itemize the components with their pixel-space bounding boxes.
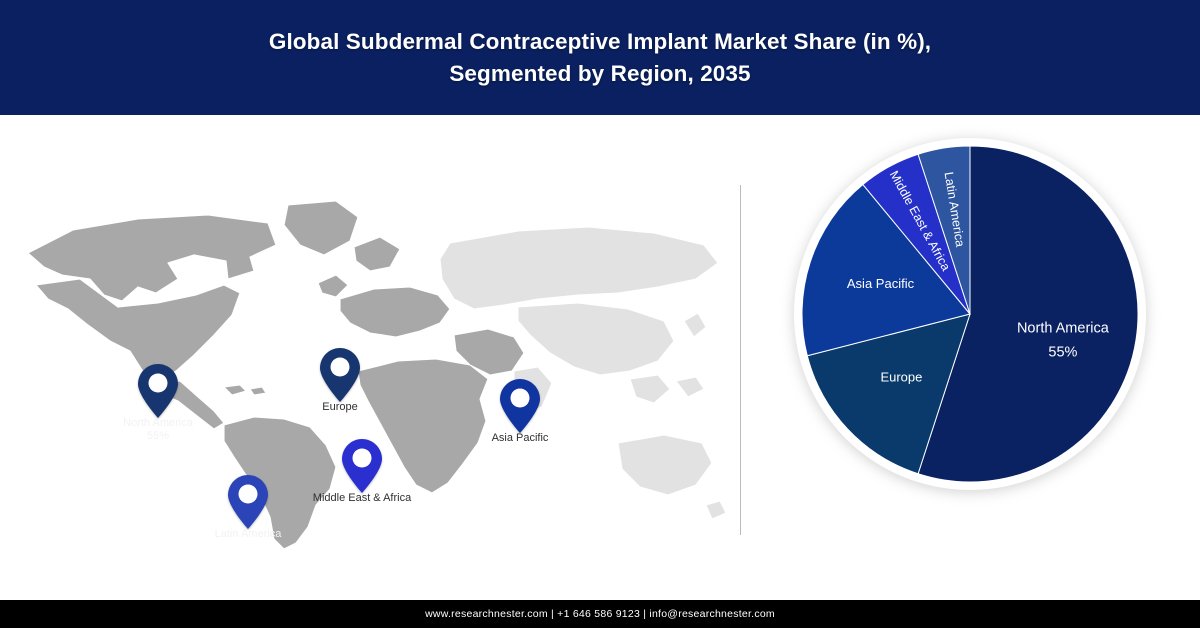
marker-region-name: Latin America bbox=[215, 528, 282, 540]
location-pin-icon bbox=[137, 363, 179, 419]
marker-region-value: 55% bbox=[123, 430, 193, 443]
map-marker-asia-pacific[interactable]: Asia Pacific bbox=[499, 378, 541, 434]
map-marker-europe[interactable]: Europe bbox=[319, 347, 361, 403]
map-marker-north-america[interactable]: North America 55% bbox=[137, 363, 179, 419]
page-title-line-1: Global Subdermal Contraceptive Implant M… bbox=[269, 29, 931, 54]
location-pin-icon bbox=[319, 347, 361, 403]
pie-chart: North America55%EuropeAsia PacificMiddle… bbox=[792, 136, 1148, 492]
footer-contact-text: www.researchnester.com | +1 646 586 9123… bbox=[425, 608, 775, 620]
marker-region-name: Middle East & Africa bbox=[313, 492, 411, 504]
location-pin-icon bbox=[341, 438, 383, 494]
pie-chart-svg: North America55%EuropeAsia PacificMiddle… bbox=[792, 136, 1148, 492]
world-map-panel: North America 55% Latin America Europe bbox=[0, 115, 740, 600]
map-marker-label-latin-america: Latin America bbox=[215, 528, 282, 541]
location-pin-icon bbox=[499, 378, 541, 434]
map-marker-label-north-america: North America 55% bbox=[123, 417, 193, 444]
marker-region-name: Europe bbox=[322, 401, 357, 413]
footer-bar: www.researchnester.com | +1 646 586 9123… bbox=[0, 600, 1200, 628]
page-title-line-2: Segmented by Region, 2035 bbox=[449, 61, 750, 86]
content-stage: North America 55% Latin America Europe bbox=[0, 115, 1200, 600]
marker-region-name: Asia Pacific bbox=[492, 432, 549, 444]
map-marker-middle-east-africa[interactable]: Middle East & Africa bbox=[341, 438, 383, 494]
page-title: Global Subdermal Contraceptive Implant M… bbox=[229, 26, 971, 90]
marker-region-name: North America bbox=[123, 417, 193, 429]
pie-chart-panel: North America55%EuropeAsia PacificMiddle… bbox=[740, 115, 1200, 600]
map-marker-latin-america[interactable]: Latin America bbox=[227, 474, 269, 530]
header-banner: Global Subdermal Contraceptive Implant M… bbox=[0, 0, 1200, 115]
map-marker-label-europe: Europe bbox=[322, 401, 357, 414]
map-marker-label-middle-east-africa: Middle East & Africa bbox=[313, 492, 411, 505]
location-pin-icon bbox=[227, 474, 269, 530]
map-marker-label-asia-pacific: Asia Pacific bbox=[492, 432, 549, 445]
pie-slices[interactable] bbox=[802, 146, 1138, 482]
pie-label-europe: Europe bbox=[880, 370, 922, 385]
pie-label-asia-pacific: Asia Pacific bbox=[847, 276, 915, 291]
